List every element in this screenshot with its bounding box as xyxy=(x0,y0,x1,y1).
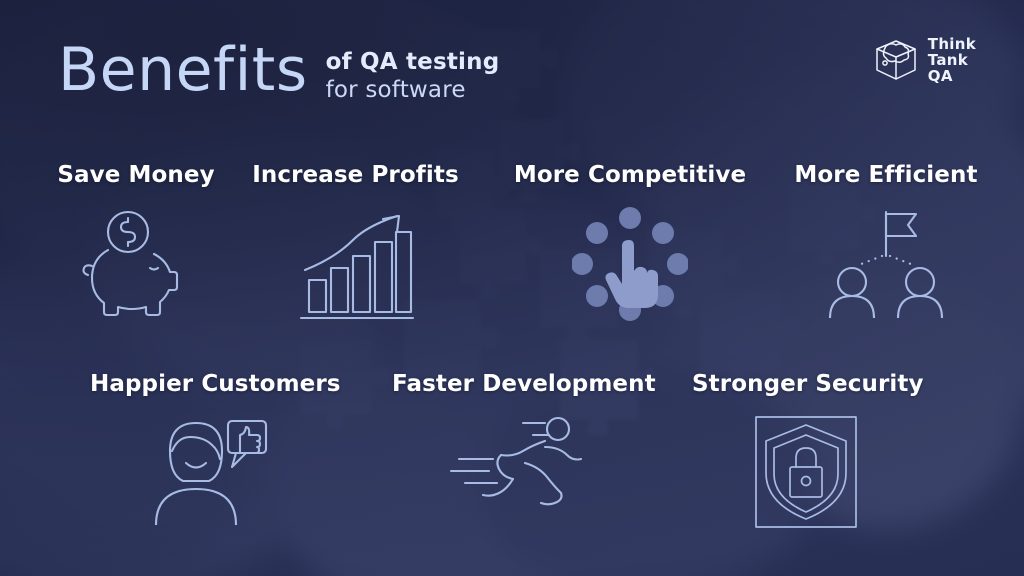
benefit-item-save-money[interactable]: Save Money xyxy=(30,162,242,318)
title-block: Benefits of QA testing for software xyxy=(58,36,499,104)
benefit-item-happier-customers[interactable]: Happier Customers xyxy=(90,371,332,525)
growth-bar-chart-icon xyxy=(297,206,415,324)
subtitle-line-2: for software xyxy=(326,76,500,104)
benefit-icon-wrap xyxy=(243,206,468,324)
benefit-icon-wrap xyxy=(778,206,994,318)
logo-wordmark: Think Tank QA xyxy=(928,36,976,84)
benefit-label: Save Money xyxy=(30,162,242,188)
piggy-bank-icon xyxy=(80,206,192,318)
running-person-icon xyxy=(445,415,595,521)
benefit-icon-wrap xyxy=(30,206,242,318)
benefit-item-faster-development[interactable]: Faster Development xyxy=(392,371,648,521)
infographic-slide: Benefits of QA testing for software Thin… xyxy=(0,0,1024,576)
benefit-icon-wrap xyxy=(500,206,760,322)
shield-padlock-icon xyxy=(754,415,858,529)
benefit-item-more-competitive[interactable]: More Competitive xyxy=(500,162,760,322)
logo-line-1: Think xyxy=(928,36,976,52)
benefit-item-increase-profits[interactable]: Increase Profits xyxy=(243,162,468,324)
benefit-label: More Efficient xyxy=(778,162,994,188)
page-title: Benefits xyxy=(58,36,308,104)
benefit-item-stronger-security[interactable]: Stronger Security xyxy=(692,371,920,529)
subtitle: of QA testing for software xyxy=(326,48,500,104)
person-thumbs-up-icon xyxy=(150,415,272,525)
benefit-label: Stronger Security xyxy=(692,371,920,397)
benefit-icon-wrap xyxy=(90,415,332,525)
benefit-label: More Competitive xyxy=(500,162,760,188)
cube-brain-icon xyxy=(873,37,919,83)
logo-line-2: Tank xyxy=(928,52,976,68)
logo-line-3: QA xyxy=(928,68,976,84)
two-people-flag-goal-icon xyxy=(826,206,946,318)
benefit-label: Happier Customers xyxy=(90,371,332,397)
benefit-item-more-efficient[interactable]: More Efficient xyxy=(778,162,994,318)
benefit-icon-wrap xyxy=(392,415,648,521)
subtitle-line-1: of QA testing xyxy=(326,48,500,76)
benefit-label: Increase Profits xyxy=(243,162,468,188)
brand-logo[interactable]: Think Tank QA xyxy=(873,36,976,84)
pointing-hand-number-one-icon xyxy=(572,206,688,322)
benefit-icon-wrap xyxy=(692,415,920,529)
benefit-label: Faster Development xyxy=(392,371,648,397)
